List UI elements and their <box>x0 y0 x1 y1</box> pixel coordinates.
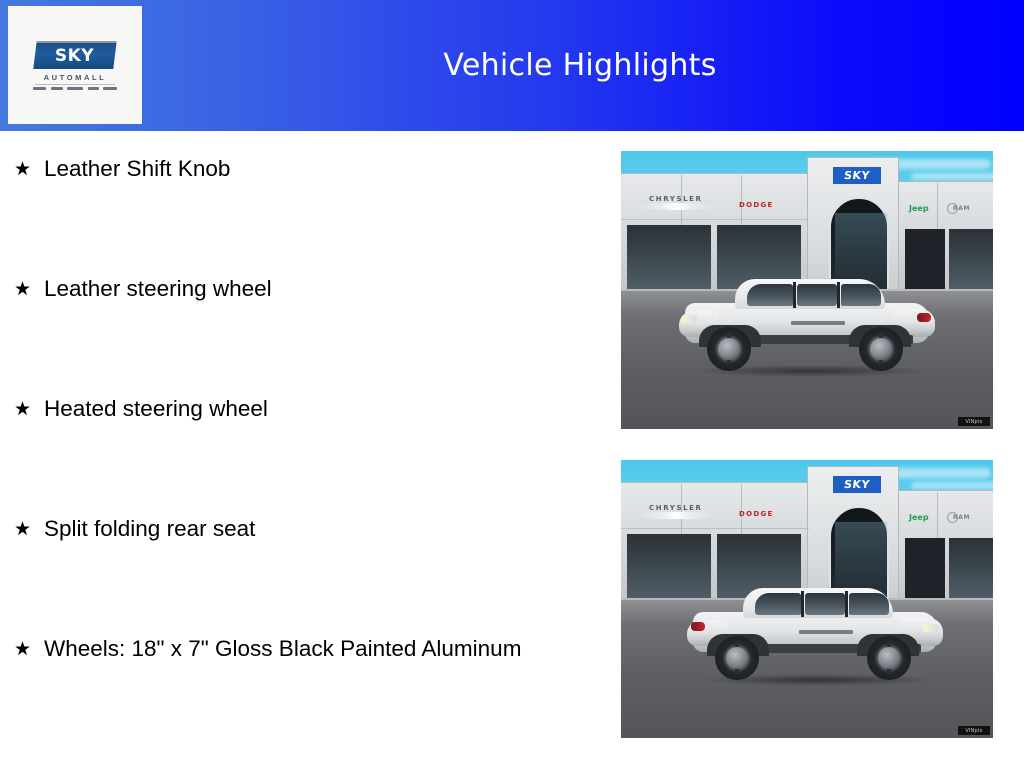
vehicle-windshield <box>747 284 793 306</box>
showroom-window <box>949 538 993 600</box>
dealer-logo: SKY AUTOMALL <box>8 6 142 124</box>
chrysler-wing-icon <box>637 512 715 519</box>
vehicle-rear-door-window <box>805 593 845 615</box>
headlamp-icon <box>923 624 939 632</box>
taillamp-icon <box>917 313 931 322</box>
sign-chrysler: CHRYSLER <box>649 504 703 512</box>
highlight-label: Split folding rear seat <box>44 512 600 546</box>
sign-ram: RAM <box>953 514 970 521</box>
vehicle-rear-quarter-view <box>681 578 949 678</box>
vehicle-front-window <box>797 284 837 306</box>
star-bullet-icon: ★ <box>14 632 44 666</box>
vehicle-front-wheel <box>867 636 911 680</box>
star-bullet-icon: ★ <box>14 392 44 426</box>
list-item: ★ Heated steering wheel <box>0 392 600 512</box>
building-seam <box>621 528 809 529</box>
sign-sky-text: SKY <box>843 478 871 491</box>
sign-dodge: DODGE <box>739 201 774 209</box>
page-header: SKY AUTOMALL Vehicle Highlights <box>0 0 1024 131</box>
cloud-shape <box>911 482 993 489</box>
highlight-label: Leather Shift Knob <box>44 152 600 186</box>
brand-mark-ram-icon <box>103 87 117 90</box>
headlamp-icon <box>681 315 697 323</box>
building-seam <box>621 219 809 220</box>
showroom-window <box>949 229 993 291</box>
vehicle-rear-wheel <box>715 636 759 680</box>
wheel-hub <box>878 647 900 669</box>
vehicle-c-pillar <box>801 591 804 617</box>
highlight-label: Leather steering wheel <box>44 272 600 306</box>
highlight-label: Heated steering wheel <box>44 392 600 426</box>
vehicle-front-wheel <box>707 327 751 371</box>
sign-sky: SKY <box>833 476 881 493</box>
logo-brand-strip <box>33 87 117 90</box>
logo-divider <box>35 84 115 85</box>
sign-dodge: DODGE <box>739 510 774 518</box>
wheel-hub <box>870 338 892 360</box>
page-title: Vehicle Highlights <box>150 0 1010 131</box>
automall-tagline: AUTOMALL <box>44 73 107 82</box>
photo-watermark-text: VINpix <box>965 419 982 425</box>
highlight-label: Wheels: 18" x 7" Gloss Black Painted Alu… <box>44 632 600 666</box>
sign-sky-text: SKY <box>843 169 871 182</box>
star-bullet-icon: ★ <box>14 272 44 306</box>
vehicle-c-pillar <box>837 282 840 308</box>
list-item: ★ Wheels: 18" x 7" Gloss Black Painted A… <box>0 632 600 752</box>
sky-logo-text: SKY <box>55 46 94 66</box>
chrysler-wing-icon <box>637 203 715 210</box>
brand-mark-chrysler-icon <box>51 87 63 90</box>
brand-mark-dodge-icon <box>67 87 83 90</box>
vehicle-highlights-list: ★ Leather Shift Knob ★ Leather steering … <box>0 152 600 752</box>
brand-mark-ford-icon <box>33 87 46 90</box>
star-bullet-icon: ★ <box>14 512 44 546</box>
sign-sky: SKY <box>833 167 881 184</box>
wheel-hub <box>718 338 740 360</box>
photo-watermark: VINpix <box>958 417 990 426</box>
sign-ram: RAM <box>953 205 970 212</box>
vehicle-rear-window <box>841 284 881 306</box>
sign-jeep: Jeep <box>909 204 929 213</box>
vehicle-b-pillar <box>845 591 848 617</box>
sky-logo-badge: SKY <box>33 41 116 69</box>
photo-watermark-text: VINpix <box>965 728 982 734</box>
vehicle-rear-window <box>755 593 801 615</box>
taillamp-icon <box>691 622 705 631</box>
sign-jeep: Jeep <box>909 513 929 522</box>
list-item: ★ Leather Shift Knob <box>0 152 600 272</box>
list-item: ★ Split folding rear seat <box>0 512 600 632</box>
photo-watermark: VINpix <box>958 726 990 735</box>
list-item: ★ Leather steering wheel <box>0 272 600 392</box>
brand-mark-jeep-icon <box>88 87 99 90</box>
cloud-shape <box>911 173 993 180</box>
vehicle-photo-rear-quarter[interactable]: CHRYSLER DODGE SKY Jeep RAM <box>621 460 993 738</box>
vehicle-driver-side <box>673 269 941 369</box>
vehicle-rear-wheel <box>859 327 903 371</box>
vehicle-b-pillar <box>793 282 796 308</box>
vehicle-windshield <box>849 593 889 615</box>
star-bullet-icon: ★ <box>14 152 44 186</box>
wheel-hub <box>726 647 748 669</box>
vehicle-door-badge <box>799 630 853 634</box>
vehicle-photo-driver-side[interactable]: CHRYSLER DODGE SKY Jeep RAM <box>621 151 993 429</box>
sign-chrysler: CHRYSLER <box>649 195 703 203</box>
vehicle-door-badge <box>791 321 845 325</box>
